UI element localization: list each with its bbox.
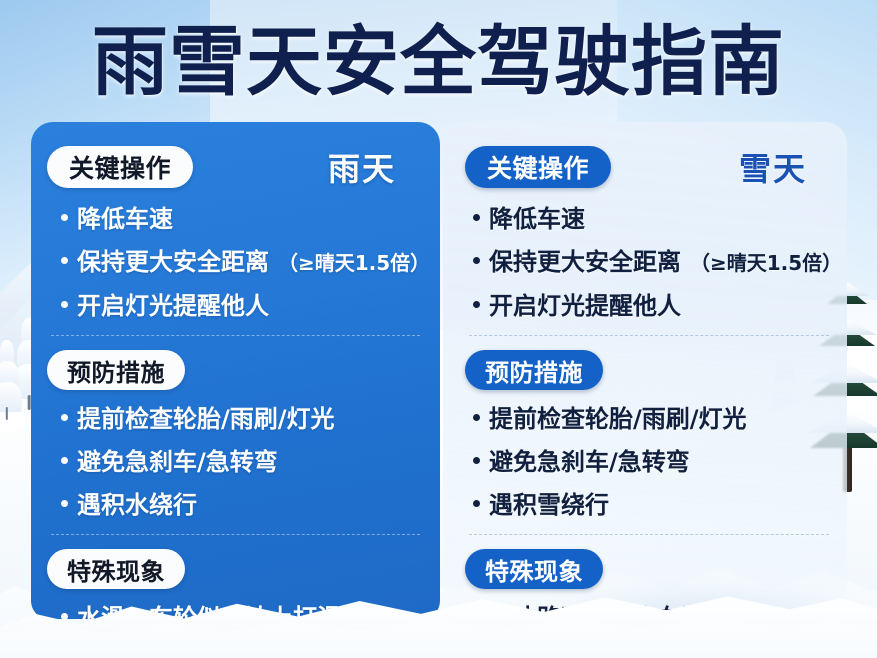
list-item-note: （≥晴天1.5倍）: [278, 242, 430, 285]
snow-tree-left-2: [0, 340, 22, 420]
list-item: 遇积雪绕行: [465, 484, 833, 527]
list-item-text: 水滑：车轮似在油上打滑: [77, 597, 341, 619]
snow-weather-tag: 雪天: [739, 144, 833, 190]
list-item: 结冰路面：似走在溜冰场: [465, 597, 833, 619]
list-item-text: 避免急刹车/急转弯: [489, 441, 690, 484]
bullet-dot-icon: [61, 500, 68, 507]
rain-card-header: 关键操作 雨天: [47, 144, 424, 190]
rain-divider-1: [51, 335, 420, 336]
bullet-dot-icon: [61, 214, 68, 221]
bullet-dot-icon: [473, 214, 480, 221]
bullet-dot-icon: [61, 457, 68, 464]
list-item-text: 遇积雪绕行: [489, 484, 609, 527]
list-item-text: 开启灯光提醒他人: [489, 285, 681, 328]
rain-divider-2: [51, 534, 420, 535]
rain-section-heading-key-operations: 关键操作: [47, 146, 193, 188]
list-item-text: 开启灯光提醒他人: [77, 285, 269, 328]
snow-section-heading-key-operations: 关键操作: [465, 146, 611, 188]
list-item: 保持更大安全距离（≥晴天1.5倍）: [465, 241, 833, 285]
snow-divider-2: [469, 534, 829, 535]
list-item: 水滑：车轮似在油上打滑: [47, 597, 424, 619]
bullet-dot-icon: [473, 301, 480, 308]
snow-card-header: 关键操作 雪天: [465, 144, 833, 190]
list-item-text: 降低车速: [77, 198, 173, 241]
bullet-dot-icon: [473, 500, 480, 507]
snow-key-operations-list: 降低车速 保持更大安全距离（≥晴天1.5倍） 开启灯光提醒他人: [465, 198, 833, 328]
list-item-text: 保持更大安全距离: [489, 241, 681, 284]
bullet-dot-icon: [61, 613, 68, 619]
list-item: 降低车速: [47, 198, 424, 241]
snow-weather-card: 关键操作 雪天 降低车速 保持更大安全距离（≥晴天1.5倍） 开启灯光提醒他人 …: [443, 122, 847, 619]
bullet-dot-icon: [61, 257, 68, 264]
list-item-text: 降低车速: [489, 198, 585, 241]
rain-weather-tag: 雨天: [328, 144, 424, 190]
bullet-dot-icon: [473, 414, 480, 421]
list-item: 保持更大安全距离（≥晴天1.5倍）: [47, 241, 424, 285]
snow-section-heading-special-phenomena: 特殊现象: [465, 549, 603, 589]
list-item: 避免急刹车/急转弯: [465, 441, 833, 484]
rain-section-heading-prevention: 预防措施: [47, 350, 185, 390]
list-item: 遇积水绕行: [47, 484, 424, 527]
snow-card-subheader-special: 特殊现象: [465, 547, 833, 591]
list-item-text: 提前检查轮胎/雨刷/灯光: [489, 398, 747, 441]
rain-card-subheader-special: 特殊现象: [47, 547, 424, 591]
list-item: 开启灯光提醒他人: [47, 285, 424, 328]
comparison-cards: 关键操作 雨天 降低车速 保持更大安全距离（≥晴天1.5倍） 开启灯光提醒他人 …: [31, 122, 847, 619]
list-item-text: 避免急刹车/急转弯: [77, 441, 278, 484]
list-item: 避免急刹车/急转弯: [47, 441, 424, 484]
bullet-dot-icon: [61, 301, 68, 308]
list-item-text: 遇积水绕行: [77, 484, 197, 527]
snow-divider-1: [469, 335, 829, 336]
list-item: 降低车速: [465, 198, 833, 241]
rain-key-operations-list: 降低车速 保持更大安全距离（≥晴天1.5倍） 开启灯光提醒他人: [47, 198, 424, 328]
bullet-dot-icon: [473, 457, 480, 464]
snow-card-subheader-prevention: 预防措施: [465, 348, 833, 392]
page-title: 雨雪天安全驾驶指南: [0, 14, 877, 110]
rain-special-list: 水滑：车轮似在油上打滑: [47, 597, 424, 619]
rain-weather-card: 关键操作 雨天 降低车速 保持更大安全距离（≥晴天1.5倍） 开启灯光提醒他人 …: [31, 122, 440, 619]
list-item: 开启灯光提醒他人: [465, 285, 833, 328]
list-item-note: （≥晴天1.5倍）: [690, 242, 842, 285]
list-item-text: 保持更大安全距离: [77, 241, 269, 284]
list-item-text: 提前检查轮胎/雨刷/灯光: [77, 398, 335, 441]
snow-section-heading-prevention: 预防措施: [465, 350, 603, 390]
bullet-dot-icon: [61, 414, 68, 421]
rain-prevention-list: 提前检查轮胎/雨刷/灯光 避免急刹车/急转弯 遇积水绕行: [47, 398, 424, 527]
rain-section-heading-special-phenomena: 特殊现象: [47, 549, 185, 589]
bullet-dot-icon: [473, 257, 480, 264]
snow-prevention-list: 提前检查轮胎/雨刷/灯光 避免急刹车/急转弯 遇积雪绕行: [465, 398, 833, 527]
list-item: 提前检查轮胎/雨刷/灯光: [465, 398, 833, 441]
snow-special-list: 结冰路面：似走在溜冰场: [465, 597, 833, 619]
rain-card-subheader-prevention: 预防措施: [47, 348, 424, 392]
bullet-dot-icon: [473, 613, 480, 619]
list-item: 提前检查轮胎/雨刷/灯光: [47, 398, 424, 441]
list-item-text: 结冰路面：似走在溜冰场: [489, 597, 753, 619]
